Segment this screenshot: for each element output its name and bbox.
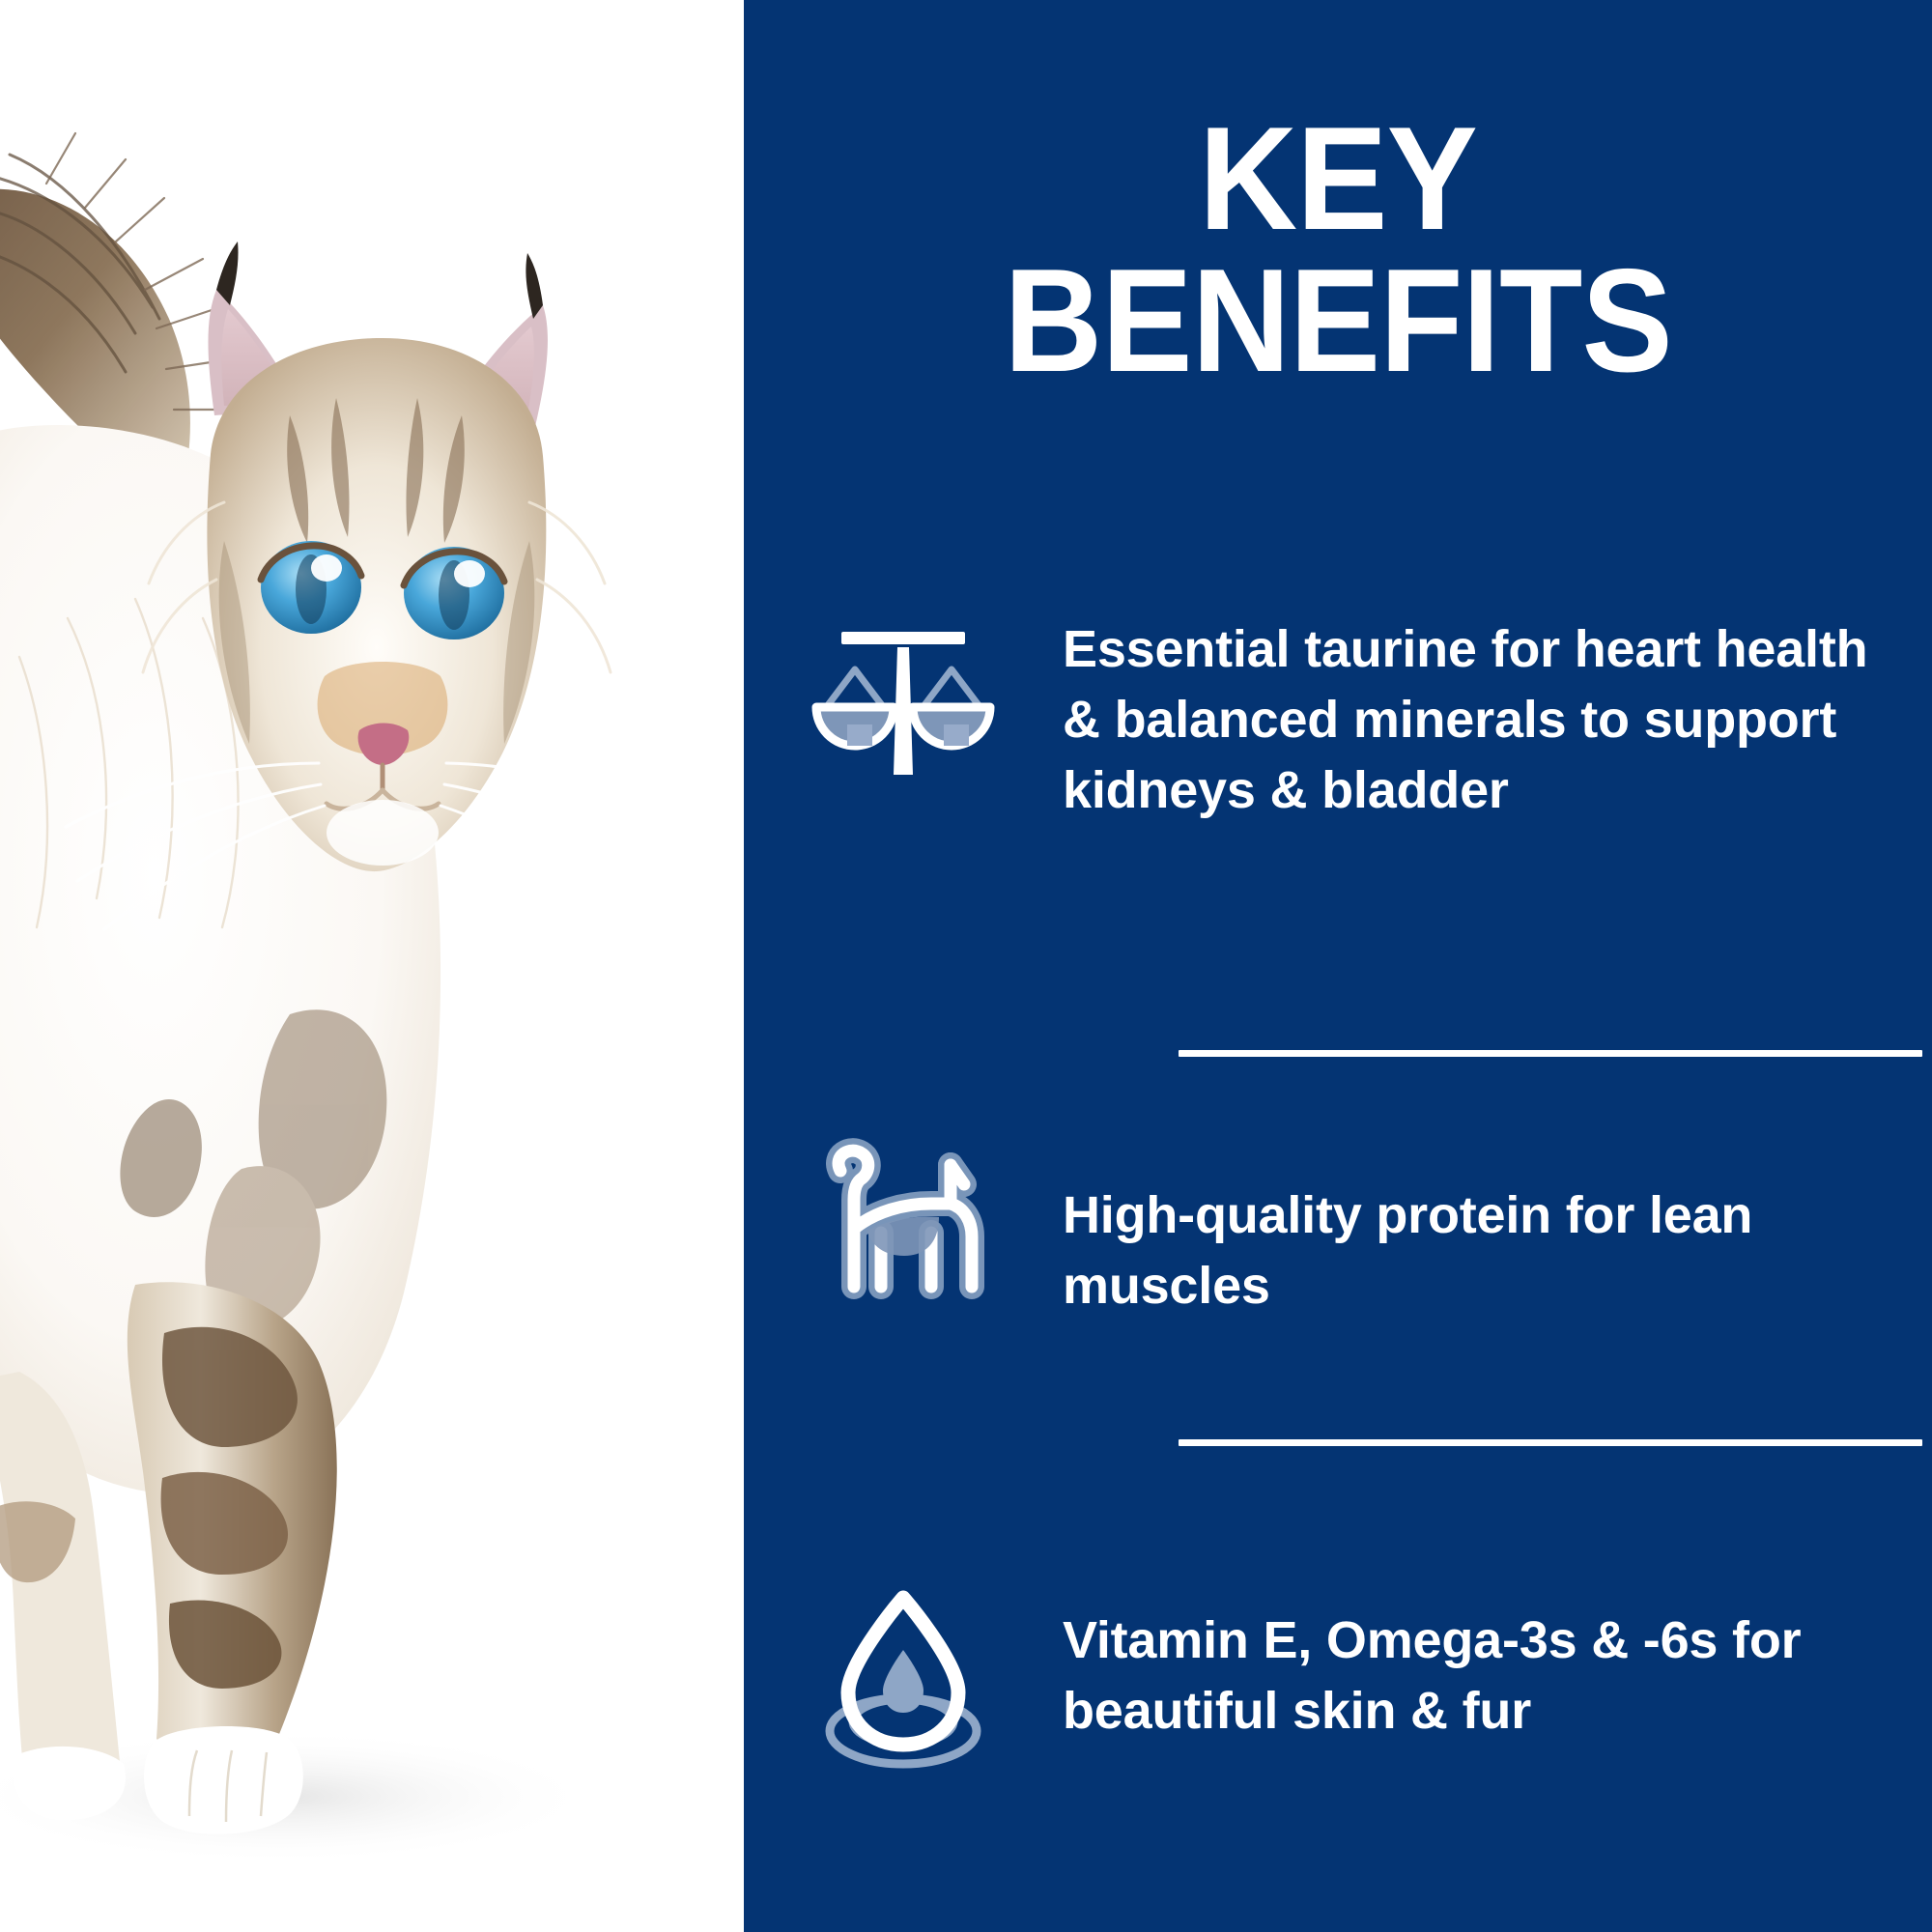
benefits-pane: KEY BENEFITS xyxy=(744,0,1932,1932)
benefit-item-1: Essential taurine for heart health & bal… xyxy=(744,614,1932,826)
water-droplet-icon xyxy=(744,1580,1063,1777)
benefit-text-1: Essential taurine for heart health & bal… xyxy=(1063,614,1932,826)
key-benefits-panel: KEY BENEFITS xyxy=(0,0,1932,1932)
benefit-divider-2 xyxy=(1179,1439,1922,1446)
cat-photo-pane xyxy=(0,0,744,1932)
benefit-item-3: Vitamin E, Omega-3s & -6s for beautiful … xyxy=(744,1580,1932,1777)
balance-scale-icon xyxy=(744,614,1063,792)
page-title: KEY BENEFITS xyxy=(785,108,1890,393)
benefit-text-3: Vitamin E, Omega-3s & -6s for beautiful … xyxy=(1063,1580,1932,1747)
cat-eye-left xyxy=(261,541,361,634)
benefit-item-2: High-quality protein for lean muscles xyxy=(744,1132,1932,1321)
cat-photograph xyxy=(0,0,744,1932)
cat-silhouette-icon xyxy=(744,1132,1063,1320)
benefit-divider-1 xyxy=(1179,1050,1922,1057)
benefit-text-2: High-quality protein for lean muscles xyxy=(1063,1132,1932,1321)
cat-eye-right xyxy=(404,547,504,639)
